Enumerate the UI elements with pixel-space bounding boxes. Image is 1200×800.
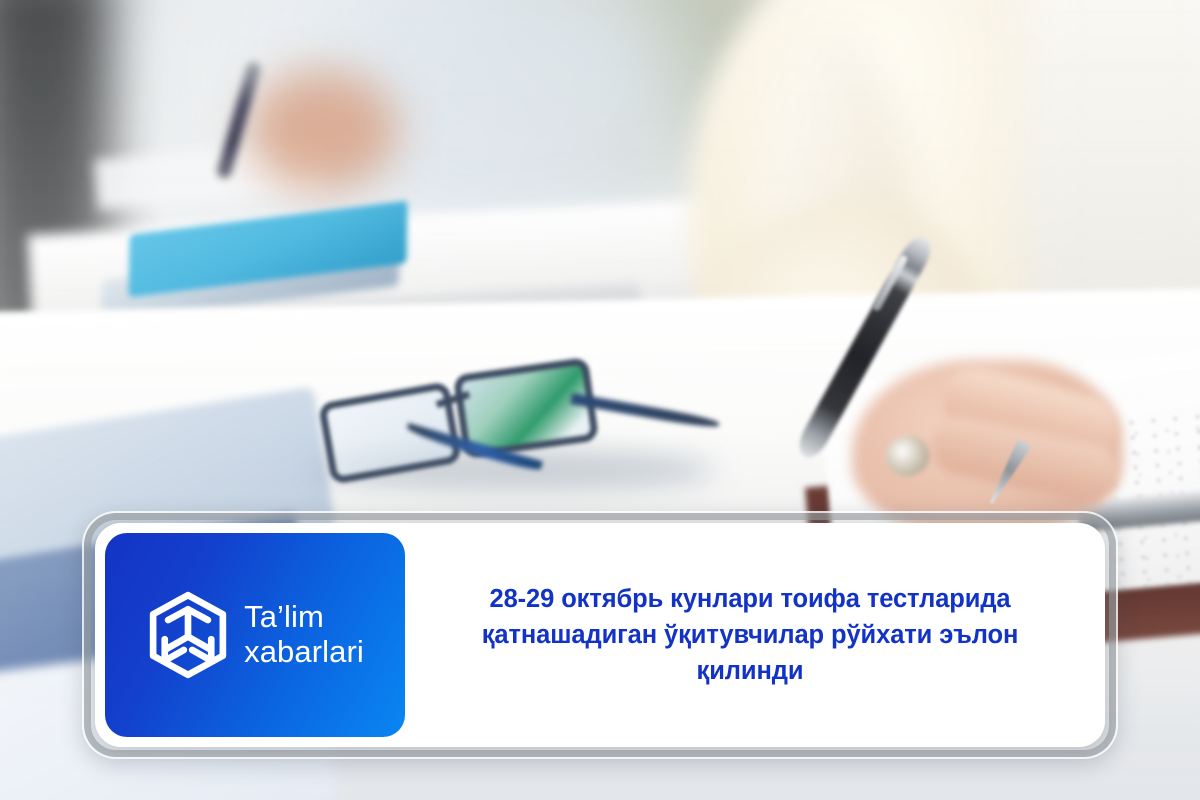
background-hand	[248, 70, 398, 190]
cube-arrows-logo-icon	[146, 591, 230, 679]
brand-logo-panel[interactable]: Ta’lim xabarlari	[105, 533, 405, 737]
banner-image: Ta’lim xabarlari 28-29 октябрь кунлари т…	[0, 0, 1200, 800]
eyeglasses	[318, 360, 738, 490]
headline-panel: 28-29 октябрь кунлари тоифа тестларида қ…	[405, 523, 1105, 747]
banner-headline: 28-29 октябрь кунлари тоифа тестларида қ…	[430, 581, 1070, 690]
brand-wordmark-line2: xabarlari	[244, 635, 364, 670]
brand-wordmark: Ta’lim xabarlari	[244, 600, 364, 669]
banner-card: Ta’lim xabarlari 28-29 октябрь кунлари т…	[95, 523, 1105, 747]
brand-wordmark-line1: Ta’lim	[244, 600, 364, 635]
